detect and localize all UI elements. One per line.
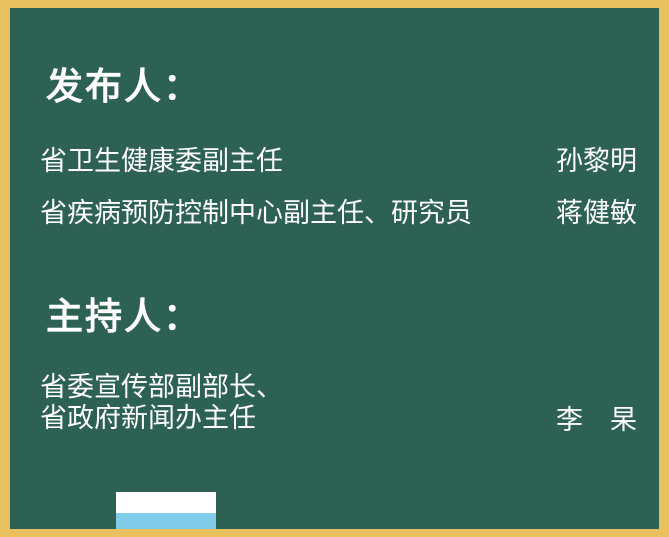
presenter-row-2: 省疾病预防控制中心副主任、研究员 蒋健敏 [40,198,637,229]
slide-content: 发布人： 省卫生健康委副主任 孙黎明 省疾病预防控制中心副主任、研究员 蒋健敏 … [10,8,659,529]
host-row-1: 省委宣传部副部长、 省政府新闻办主任 李 杲 [40,372,637,435]
presenter-name-2: 蒋健敏 [556,198,637,229]
bottom-color-marker-accent [116,513,216,529]
host-heading: 主持人： [46,298,202,335]
presenter-title-2: 省疾病预防控制中心副主任、研究员 [40,198,472,229]
host-title-1: 省委宣传部副部长、 省政府新闻办主任 [40,372,283,435]
presenter-row-1: 省卫生健康委副主任 孙黎明 [40,146,637,177]
presenter-name-1: 孙黎明 [556,146,637,177]
host-name-1: 李 杲 [556,405,637,436]
bottom-color-marker [116,492,216,529]
slide-frame: 发布人： 省卫生健康委副主任 孙黎明 省疾病预防控制中心副主任、研究员 蒋健敏 … [0,0,669,537]
presenters-heading: 发布人： [46,68,202,105]
presenter-title-1: 省卫生健康委副主任 [40,146,283,177]
slide-green-panel: 发布人： 省卫生健康委副主任 孙黎明 省疾病预防控制中心副主任、研究员 蒋健敏 … [10,8,659,529]
